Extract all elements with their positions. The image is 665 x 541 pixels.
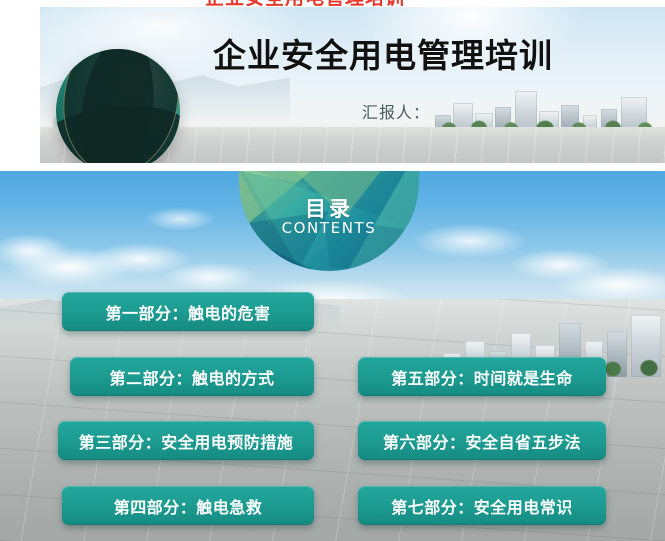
slide-title: 企业安全用电管理培训 xyxy=(213,29,553,77)
slide-deck-page: 企业安全用电管理培训 企业安全用电管理培训 汇报人： 目录 xyxy=(0,0,665,541)
contents-item-3[interactable]: 第三部分：安全用电预防措施 xyxy=(58,421,314,460)
cut-off-heading-text: 企业安全用电管理培训 xyxy=(205,0,405,6)
contents-item-5[interactable]: 第五部分：时间就是生命 xyxy=(358,357,606,396)
sphere-highlight-seam xyxy=(56,49,180,163)
teal-sphere-graphic xyxy=(56,49,180,163)
contents-badge: 目录 CONTENTS xyxy=(239,171,419,271)
contents-item-4[interactable]: 第四部分：触电急救 xyxy=(62,486,314,525)
contents-item-6[interactable]: 第六部分：安全自省五步法 xyxy=(358,421,606,460)
contents-item-7[interactable]: 第七部分：安全用电常识 xyxy=(358,486,606,525)
cut-off-heading-strip: 企业安全用电管理培训 xyxy=(0,0,665,6)
contents-item-2[interactable]: 第二部分：触电的方式 xyxy=(70,357,314,396)
contents-title-en: CONTENTS xyxy=(239,219,419,237)
presenter-label: 汇报人： xyxy=(362,99,430,123)
title-slide: 企业安全用电管理培训 汇报人： xyxy=(40,7,665,163)
contents-slide: 目录 CONTENTS 第一部分：触电的危害第二部分：触电的方式第三部分：安全用… xyxy=(0,171,665,541)
contents-item-1[interactable]: 第一部分：触电的危害 xyxy=(62,292,314,331)
